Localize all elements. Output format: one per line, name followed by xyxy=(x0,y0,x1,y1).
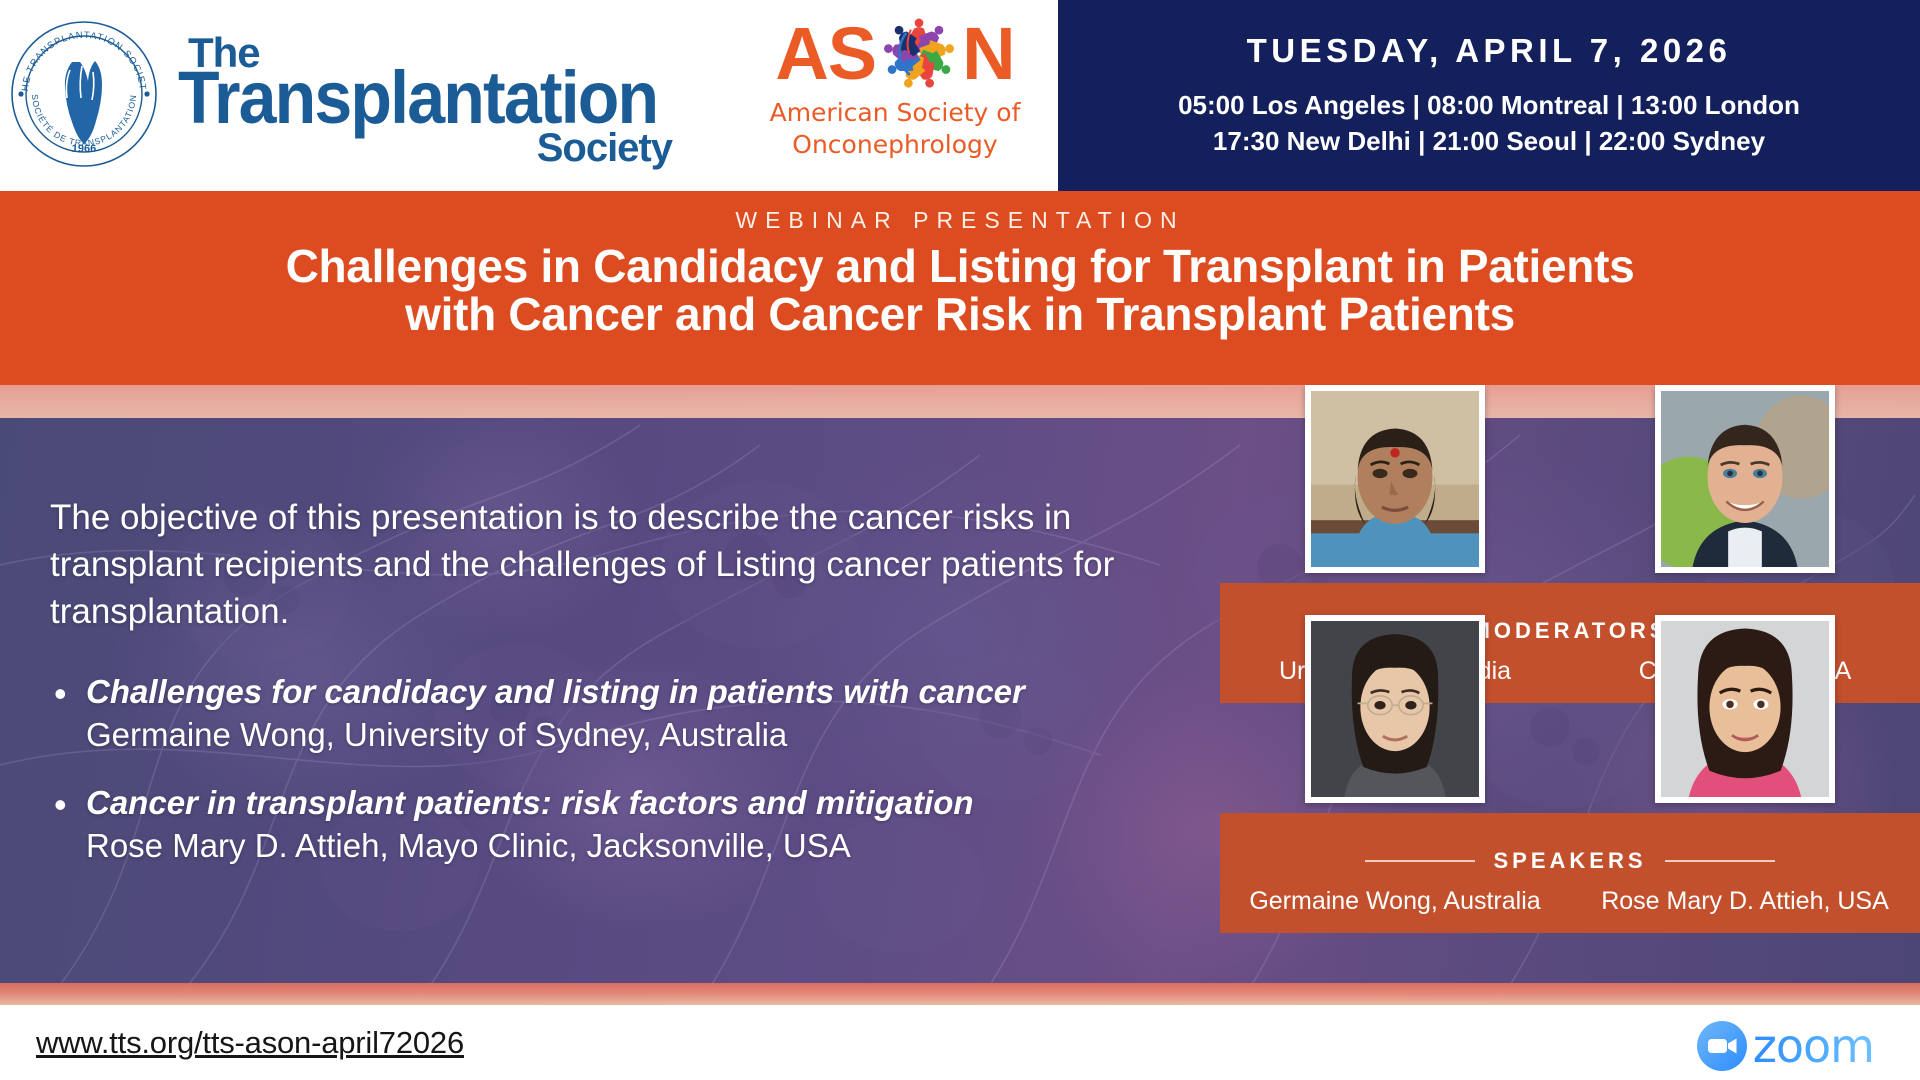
talk-item-1: • Challenges for candidacy and listing i… xyxy=(50,672,1180,755)
talk-title-1: Challenges for candidacy and listing in … xyxy=(86,672,1180,712)
ason-subtitle-line2: Onconephrology xyxy=(745,130,1045,160)
talk-speaker-1: Germaine Wong, University of Sydney, Aus… xyxy=(86,715,1180,755)
rule-right xyxy=(1665,860,1775,862)
avatar xyxy=(1661,621,1829,797)
avatar xyxy=(1311,391,1479,567)
objective-paragraph: The objective of this presentation is to… xyxy=(50,495,1180,636)
talk-item-2: • Cancer in transplant patients: risk fa… xyxy=(50,783,1180,866)
talk-speaker-2: Rose Mary D. Attieh, Mayo Clinic, Jackso… xyxy=(86,826,1180,866)
registration-url-link[interactable]: www.tts.org/tts-ason-april72026 xyxy=(36,1025,464,1061)
svg-text:1966: 1966 xyxy=(72,143,96,155)
avatar-frame xyxy=(1305,615,1485,803)
moderator-cell-1 xyxy=(1220,385,1570,573)
speakers-photo-row xyxy=(1220,615,1920,803)
ason-letter-n: N xyxy=(962,17,1014,91)
title-band: WEBINAR PRESENTATION Challenges in Candi… xyxy=(0,191,1920,385)
zoom-logo: zoom xyxy=(1697,1019,1874,1073)
hero-section: The objective of this presentation is to… xyxy=(0,385,1920,1005)
ason-mark: AS xyxy=(745,12,1045,96)
webinar-title-line-2: with Cancer and Cancer Risk in Transplan… xyxy=(0,290,1920,338)
moderators-photo-row xyxy=(1220,385,1920,573)
ason-people-circle-icon xyxy=(876,12,962,96)
timezone-line-2: 17:30 New Delhi | 21:00 Seoul | 22:00 Sy… xyxy=(1213,124,1765,159)
bottom-accent-strip xyxy=(0,983,1920,1005)
tts-word-society: Society xyxy=(537,126,672,171)
speakers-names: Germaine Wong, Australia Rose Mary D. At… xyxy=(1220,887,1920,916)
tts-logo: THE TRANSPLANTATION SOCIETY SOCIÉTÉ DE T… xyxy=(8,4,688,184)
date-time-panel: TUESDAY, APRIL 7, 2026 05:00 Los Angeles… xyxy=(1058,0,1920,191)
zoom-camera-icon xyxy=(1697,1021,1747,1071)
avatar-frame xyxy=(1655,385,1835,573)
eyebrow-label: WEBINAR PRESENTATION xyxy=(0,207,1920,234)
speaker-cell-2 xyxy=(1570,615,1920,803)
timezone-line-1: 05:00 Los Angeles | 08:00 Montreal | 13:… xyxy=(1178,88,1800,123)
talk-title-2: Cancer in transplant patients: risk fact… xyxy=(86,783,1180,823)
bullet-icon: • xyxy=(50,672,86,755)
hero-copy: The objective of this presentation is to… xyxy=(50,495,1180,894)
tts-seal-icon: THE TRANSPLANTATION SOCIETY SOCIÉTÉ DE T… xyxy=(8,18,160,170)
avatar xyxy=(1661,391,1829,567)
ason-subtitle-line1: American Society of xyxy=(745,98,1045,128)
avatar-frame xyxy=(1305,385,1485,573)
tts-wordmark: The Transplantation Society xyxy=(168,19,668,169)
avatar-frame xyxy=(1655,615,1835,803)
bullet-icon: • xyxy=(50,783,86,866)
moderator-cell-2 xyxy=(1570,385,1920,573)
footer-bar: www.tts.org/tts-ason-april72026 zoom xyxy=(0,1005,1920,1080)
speaker-name-1: Germaine Wong, Australia xyxy=(1220,887,1570,916)
tts-word-main: Transplantation xyxy=(178,61,657,135)
header-bar: THE TRANSPLANTATION SOCIETY SOCIÉTÉ DE T… xyxy=(0,0,1920,191)
webinar-date: TUESDAY, APRIL 7, 2026 xyxy=(1247,32,1732,70)
rule-left xyxy=(1365,860,1475,862)
zoom-wordmark: zoom xyxy=(1753,1019,1874,1073)
ason-logo: AS xyxy=(745,12,1045,180)
speakers-label: SPEAKERS xyxy=(1493,848,1646,874)
ason-letters-as: AS xyxy=(775,17,876,91)
speaker-cell-1 xyxy=(1220,615,1570,803)
speaker-name-2: Rose Mary D. Attieh, USA xyxy=(1570,887,1920,916)
speakers-heading: SPEAKERS xyxy=(1220,848,1920,874)
webinar-title-line-1: Challenges in Candidacy and Listing for … xyxy=(0,242,1920,290)
avatar xyxy=(1311,621,1479,797)
